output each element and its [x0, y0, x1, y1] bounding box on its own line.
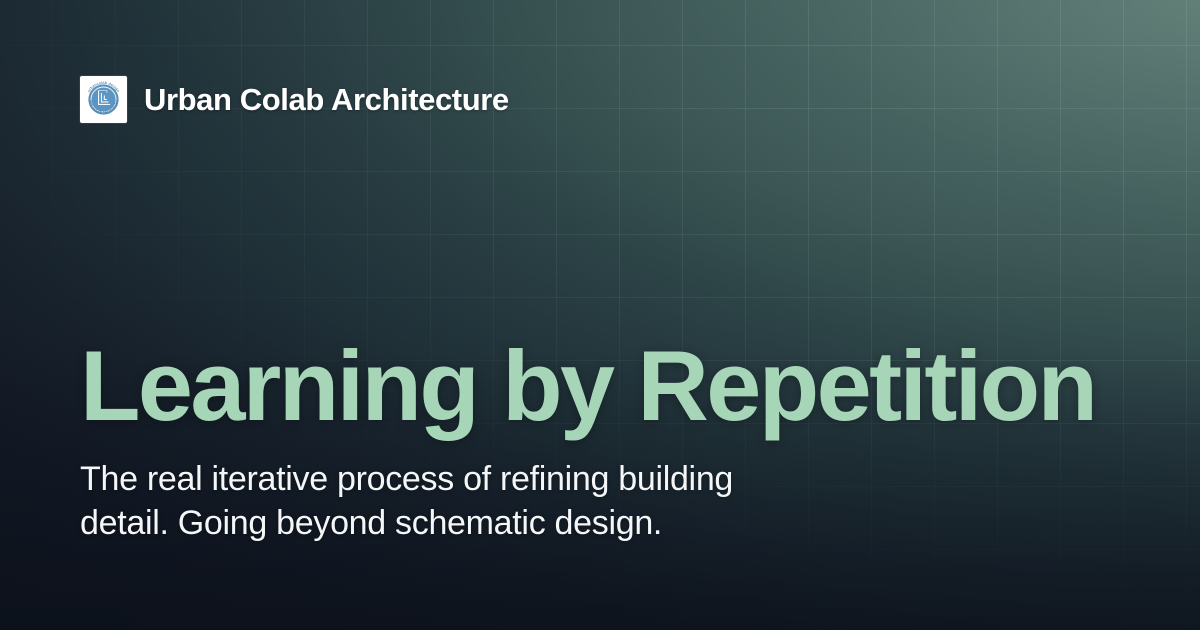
- card-content: urbancolab design URBAN COLAB ARCHITECTU…: [0, 0, 1200, 630]
- headline-block: Learning by Repetition The real iterativ…: [80, 336, 1120, 545]
- subtitle-line-2: detail. Going beyond schematic design.: [80, 501, 870, 545]
- urban-colab-seal-logo-icon: urbancolab design URBAN COLAB ARCHITECTU…: [80, 76, 127, 123]
- brand-name: Urban Colab Architecture: [144, 84, 509, 115]
- social-share-card: urbancolab design URBAN COLAB ARCHITECTU…: [0, 0, 1200, 630]
- page-subtitle: The real iterative process of refining b…: [80, 435, 870, 545]
- page-title: Learning by Repetition: [80, 336, 1120, 435]
- brand-row: urbancolab design URBAN COLAB ARCHITECTU…: [80, 76, 509, 123]
- subtitle-line-1: The real iterative process of refining b…: [80, 457, 870, 501]
